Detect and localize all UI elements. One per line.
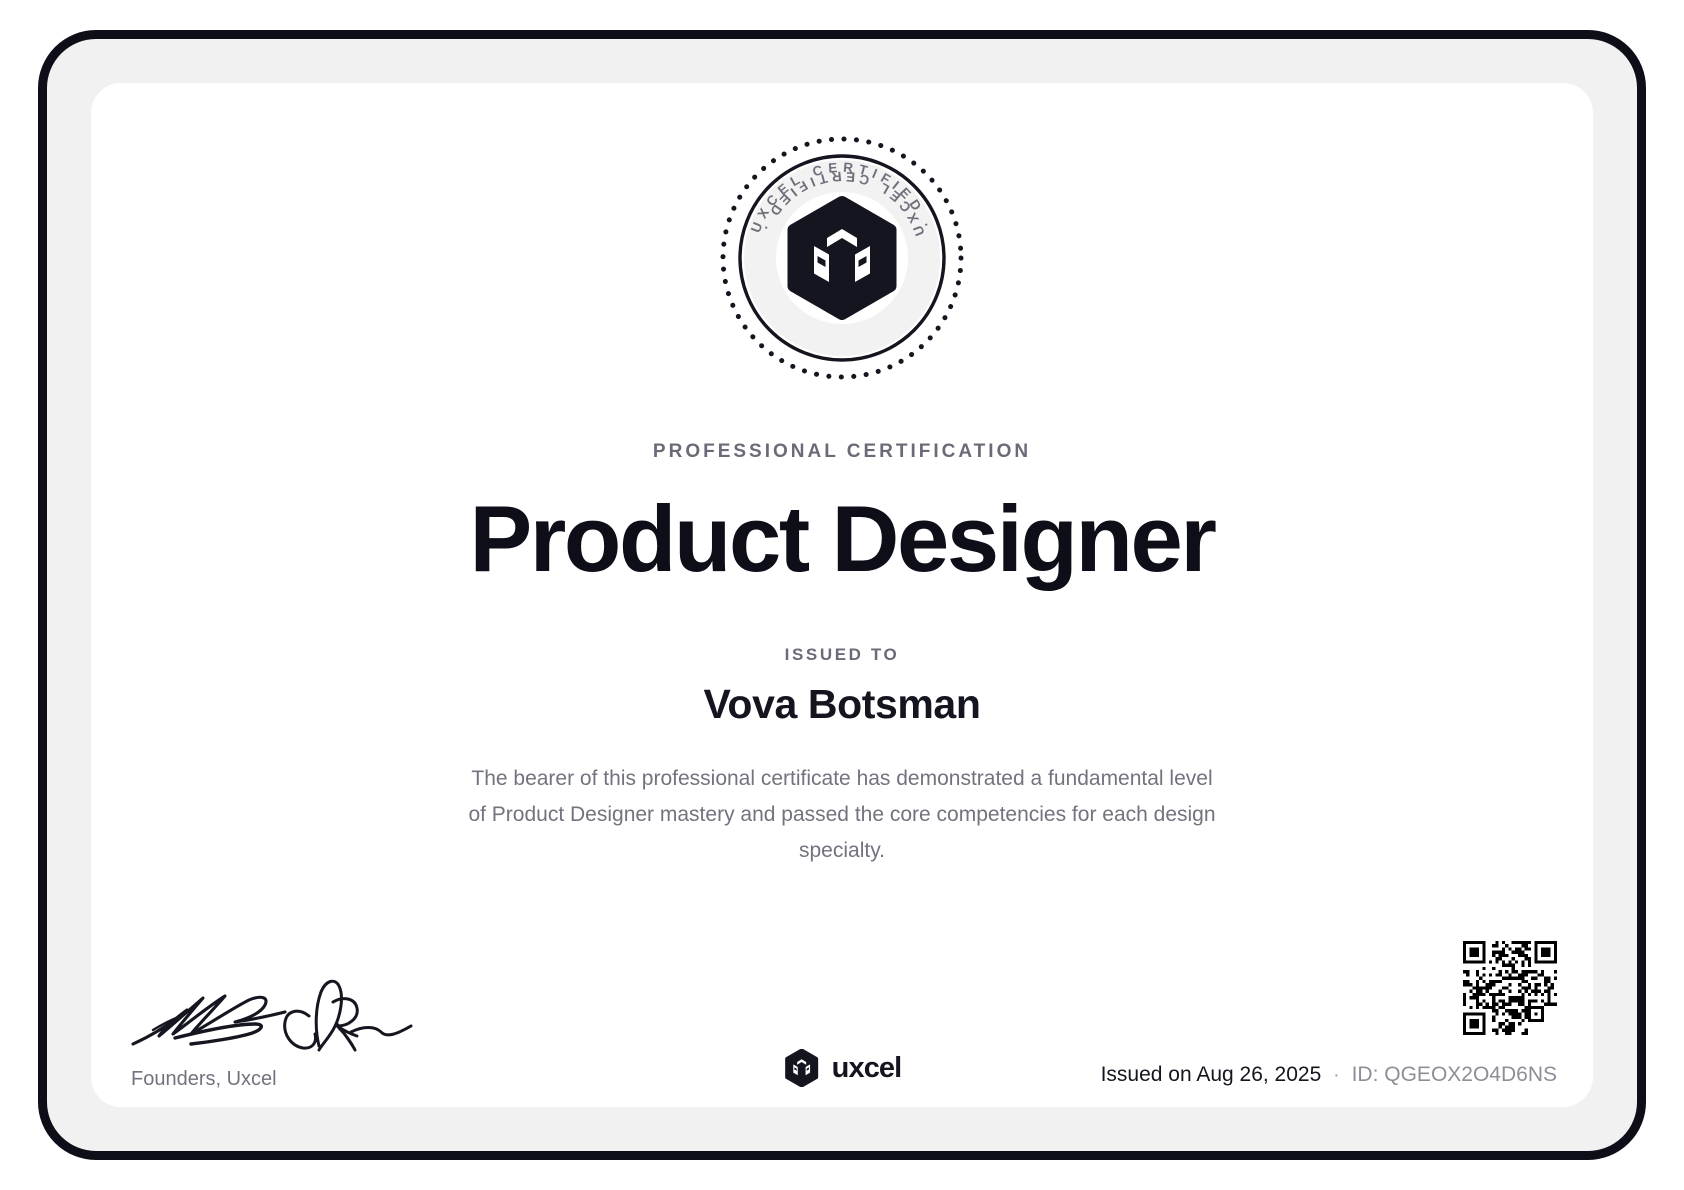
- recipient-name: Vova Botsman: [91, 681, 1593, 728]
- certificate-frame: UXCEL CERTIFIED · UXCEL CERTIFIED ·: [38, 30, 1646, 1160]
- qr-code[interactable]: [1463, 941, 1557, 1035]
- issued-on-date: Issued on Aug 26, 2025: [1101, 1063, 1322, 1087]
- brand-logo: uxcel: [783, 1049, 902, 1087]
- certificate-description: The bearer of this professional certific…: [462, 761, 1222, 869]
- certificate-card: UXCEL CERTIFIED · UXCEL CERTIFIED ·: [91, 83, 1593, 1107]
- brand-name: uxcel: [832, 1052, 902, 1085]
- issued-to-label: ISSUED TO: [91, 645, 1593, 665]
- handwritten-signatures-icon: [129, 972, 421, 1056]
- page-title: Product Designer: [91, 487, 1593, 591]
- certificate-meta: Issued on Aug 26, 2025 · ID: QGEOX2O4D6N…: [1101, 1063, 1557, 1091]
- signature-label: Founders, Uxcel: [131, 1068, 457, 1091]
- qr-code-icon[interactable]: [1463, 941, 1557, 1035]
- certificate-id: ID: QGEOX2O4D6NS: [1352, 1063, 1557, 1087]
- kicker-text: PROFESSIONAL CERTIFICATION: [91, 441, 1593, 463]
- uxcel-hexagon-logo-icon: [783, 1049, 821, 1087]
- seal-svg: UXCEL CERTIFIED · UXCEL CERTIFIED ·: [713, 129, 971, 387]
- uxcel-cube-icon: [794, 202, 891, 314]
- certification-seal: UXCEL CERTIFIED · UXCEL CERTIFIED ·: [713, 129, 971, 387]
- meta-separator: ·: [1333, 1065, 1339, 1087]
- signature-block: Founders, Uxcel: [127, 972, 457, 1091]
